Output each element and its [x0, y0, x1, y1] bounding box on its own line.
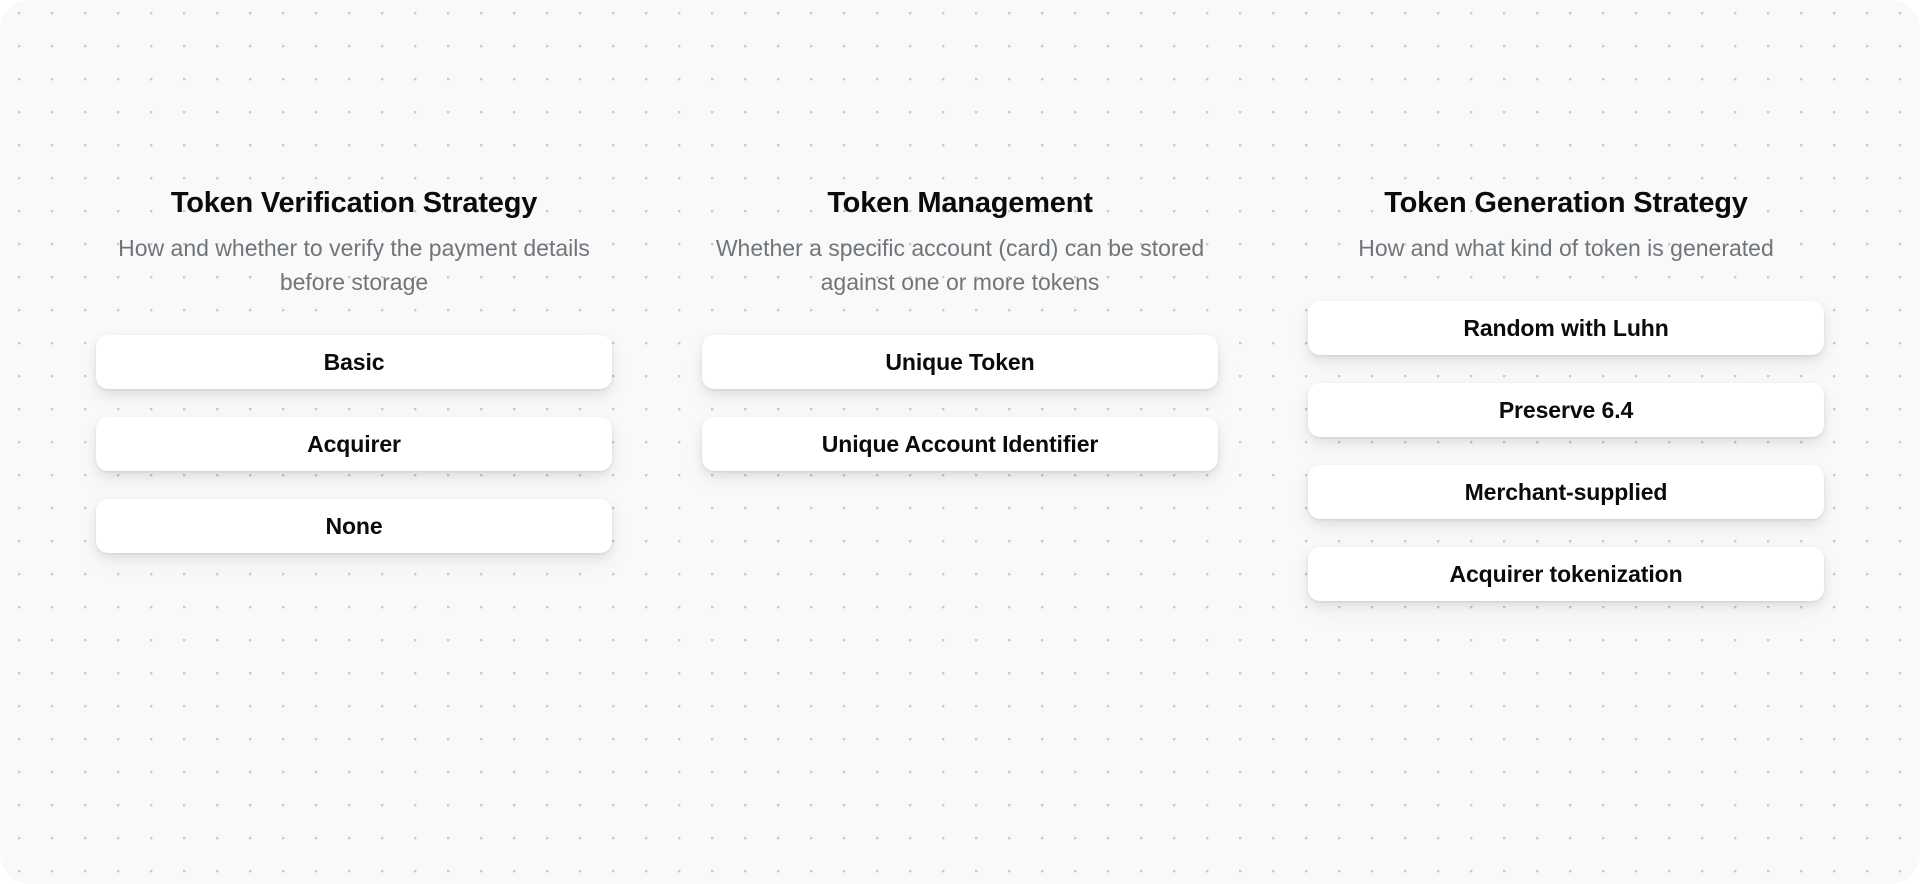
column-token-management: Token Management Whether a specific acco… — [702, 185, 1218, 471]
option-pill[interactable]: Acquirer tokenization — [1308, 547, 1824, 601]
option-label: Acquirer — [307, 431, 401, 458]
column-header: Token Verification Strategy How and whet… — [96, 185, 612, 299]
option-pill[interactable]: Preserve 6.4 — [1308, 383, 1824, 437]
column-header: Token Generation Strategy How and what k… — [1308, 185, 1824, 265]
column-title: Token Management — [710, 185, 1210, 222]
option-pill[interactable]: Unique Token — [702, 335, 1218, 389]
option-list: Random with Luhn Preserve 6.4 Merchant-s… — [1308, 301, 1824, 601]
option-pill[interactable]: Unique Account Identifier — [702, 417, 1218, 471]
column-title: Token Generation Strategy — [1316, 185, 1816, 222]
options-columns-container: Token Verification Strategy How and whet… — [0, 0, 1920, 884]
column-token-generation-strategy: Token Generation Strategy How and what k… — [1308, 185, 1824, 601]
option-label: Basic — [324, 349, 385, 376]
column-subtitle: Whether a specific account (card) can be… — [710, 231, 1210, 299]
option-pill[interactable]: Acquirer — [96, 417, 612, 471]
column-header: Token Management Whether a specific acco… — [702, 185, 1218, 299]
screenshot-canvas: Token Verification Strategy How and whet… — [0, 0, 1920, 884]
option-label: Merchant-supplied — [1465, 479, 1668, 506]
column-subtitle: How and whether to verify the payment de… — [104, 231, 604, 299]
option-label: Unique Token — [885, 349, 1034, 376]
option-label: Random with Luhn — [1463, 315, 1668, 342]
column-title: Token Verification Strategy — [104, 185, 604, 222]
option-list: Basic Acquirer None — [96, 335, 612, 553]
option-pill[interactable]: None — [96, 499, 612, 553]
option-label: Acquirer tokenization — [1449, 561, 1682, 588]
option-pill[interactable]: Random with Luhn — [1308, 301, 1824, 355]
column-token-verification-strategy: Token Verification Strategy How and whet… — [96, 185, 612, 553]
option-label: Preserve 6.4 — [1499, 397, 1633, 424]
option-pill[interactable]: Merchant-supplied — [1308, 465, 1824, 519]
option-label: None — [325, 513, 382, 540]
option-pill[interactable]: Basic — [96, 335, 612, 389]
option-label: Unique Account Identifier — [822, 431, 1099, 458]
column-subtitle: How and what kind of token is generated — [1316, 231, 1816, 265]
option-list: Unique Token Unique Account Identifier — [702, 335, 1218, 471]
